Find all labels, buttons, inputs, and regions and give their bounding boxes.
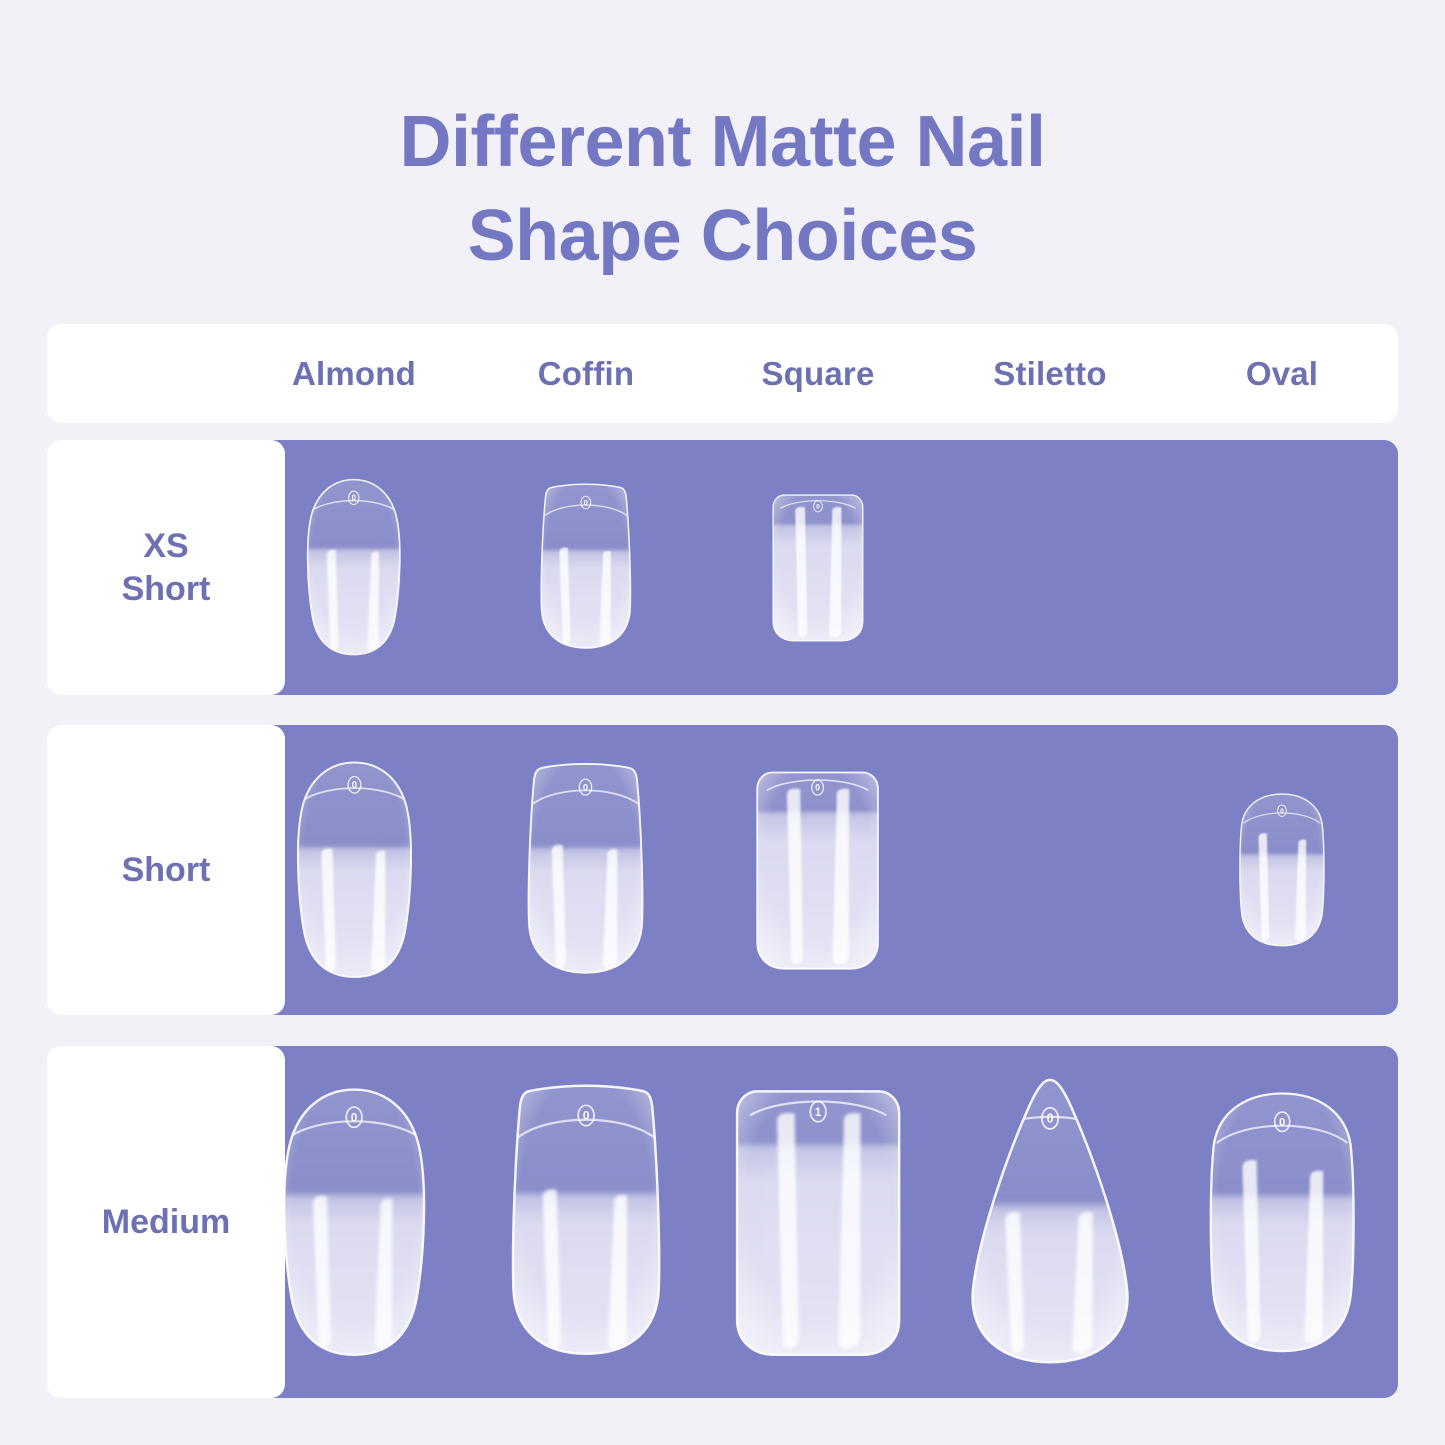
column-header-coffin: Coffin bbox=[470, 355, 702, 393]
nail-tip-coffin: 0 bbox=[529, 482, 643, 653]
table-row-medium: 0 bbox=[47, 1046, 1398, 1398]
page-title-line-2: Shape Choices bbox=[0, 190, 1445, 284]
row-cells-short: 0 bbox=[238, 725, 1398, 1015]
nail-tip-oval: 0 bbox=[1230, 792, 1334, 948]
svg-text:1: 1 bbox=[815, 1105, 822, 1119]
row-label-card-short: Short bbox=[47, 725, 285, 1015]
row-label-short: Short bbox=[122, 849, 211, 892]
nail-tip-almond: 0 bbox=[280, 758, 429, 981]
column-header-square: Square bbox=[702, 355, 934, 393]
nail-tip-coffin: 0 bbox=[493, 1082, 679, 1361]
cell-medium-square: 1 bbox=[702, 1046, 934, 1398]
column-header-almond: Almond bbox=[238, 355, 470, 393]
column-header-card: Almond Coffin Square Stiletto Oval bbox=[47, 324, 1398, 423]
svg-text:0: 0 bbox=[351, 1110, 358, 1124]
column-header-row: Almond Coffin Square Stiletto Oval bbox=[238, 324, 1398, 423]
nail-tip-square: 0 bbox=[767, 491, 869, 644]
svg-text:0: 0 bbox=[816, 504, 820, 511]
cell-short-stiletto bbox=[934, 725, 1166, 1015]
cell-xs-short-stiletto bbox=[934, 440, 1166, 695]
svg-text:0: 0 bbox=[584, 498, 588, 507]
svg-text:0: 0 bbox=[351, 780, 356, 791]
svg-text:0: 0 bbox=[583, 782, 588, 793]
svg-text:0: 0 bbox=[1280, 808, 1284, 815]
row-label-card-medium: Medium bbox=[47, 1046, 285, 1398]
row-cells-xs-short: 0 bbox=[238, 440, 1398, 695]
nail-tip-stiletto: 0 bbox=[954, 1078, 1146, 1366]
nail-tip-square: 0 bbox=[749, 767, 886, 973]
column-header-oval: Oval bbox=[1166, 355, 1398, 393]
row-label-medium: Medium bbox=[102, 1201, 230, 1244]
cell-medium-stiletto: 0 bbox=[934, 1046, 1166, 1398]
row-label-card-xs-short: XS Short bbox=[47, 440, 285, 695]
svg-text:0: 0 bbox=[816, 783, 821, 793]
nail-tip-coffin: 0 bbox=[513, 761, 658, 979]
table-row-short: 0 bbox=[47, 725, 1398, 1015]
nail-shape-chart: Different Matte Nail Shape Choices Almon… bbox=[0, 0, 1445, 1445]
cell-xs-short-square: 0 bbox=[702, 440, 934, 695]
nail-tip-oval: 0 bbox=[1194, 1090, 1370, 1355]
svg-text:0: 0 bbox=[352, 494, 357, 503]
nail-tip-almond: 0 bbox=[262, 1084, 446, 1360]
cell-short-coffin: 0 bbox=[470, 725, 702, 1015]
row-label-xs-short: XS Short bbox=[122, 525, 211, 611]
cell-short-square: 0 bbox=[702, 725, 934, 1015]
cell-short-oval: 0 bbox=[1166, 725, 1398, 1015]
page-title-line-1: Different Matte Nail bbox=[0, 96, 1445, 190]
page-title: Different Matte Nail Shape Choices bbox=[0, 96, 1445, 283]
column-header-stiletto: Stiletto bbox=[934, 355, 1166, 393]
cell-medium-oval: 0 bbox=[1166, 1046, 1398, 1398]
cell-xs-short-coffin: 0 bbox=[470, 440, 702, 695]
svg-text:0: 0 bbox=[1279, 1116, 1285, 1128]
nail-tip-almond: 0 bbox=[293, 476, 415, 658]
cell-medium-coffin: 0 bbox=[470, 1046, 702, 1398]
svg-text:0: 0 bbox=[1047, 1112, 1054, 1126]
cell-xs-short-oval bbox=[1166, 440, 1398, 695]
row-cells-medium: 0 bbox=[238, 1046, 1398, 1398]
nail-tip-square: 1 bbox=[726, 1084, 910, 1360]
svg-text:0: 0 bbox=[583, 1109, 590, 1123]
table-row-xs-short: 0 bbox=[47, 440, 1398, 695]
